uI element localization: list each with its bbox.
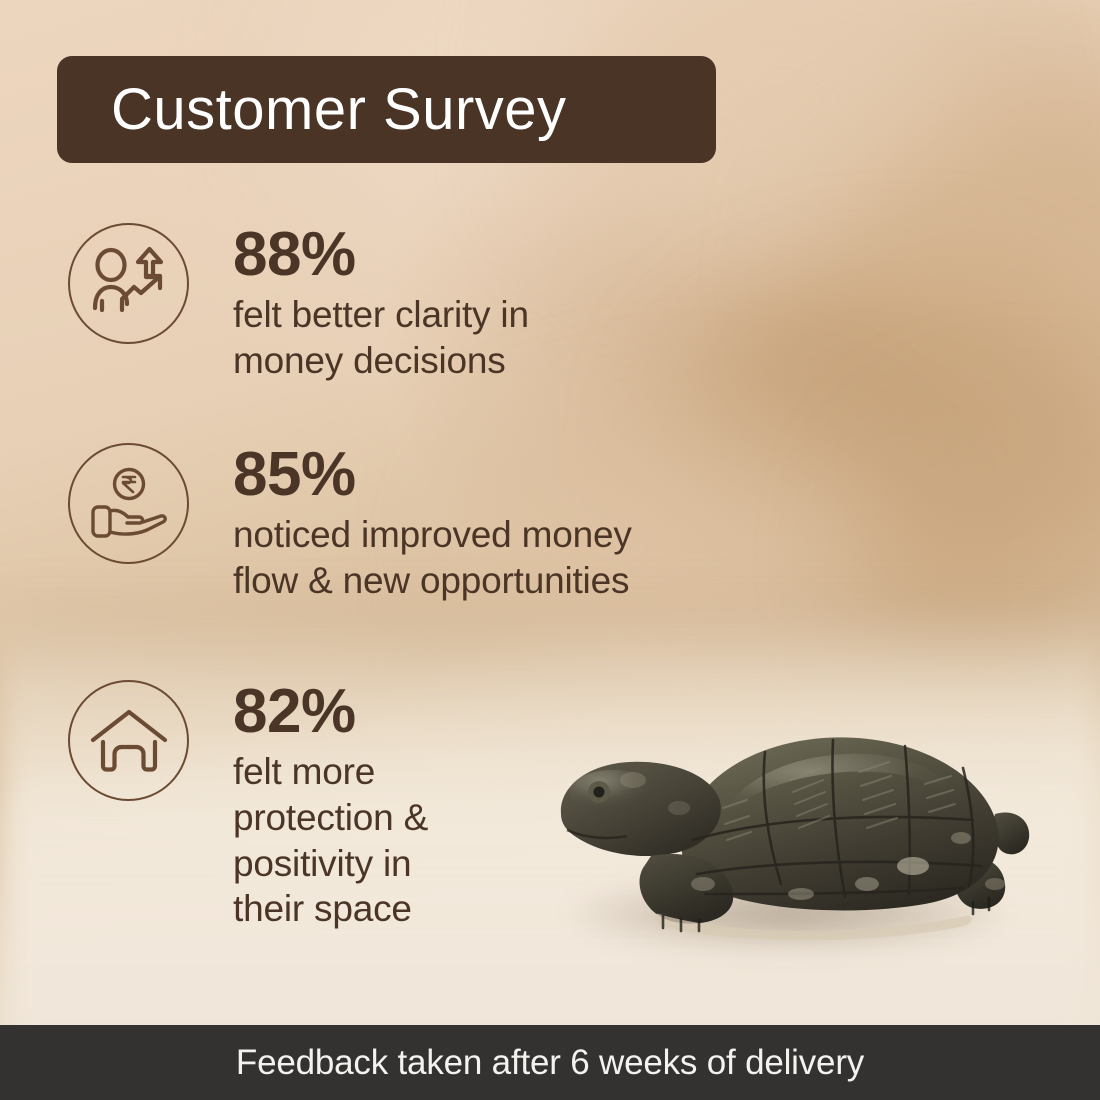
home-icon xyxy=(68,680,189,801)
stat-description: felt more protection & positivity in the… xyxy=(233,749,428,933)
stat-description: noticed improved money flow & new opport… xyxy=(233,512,632,604)
stat-percent: 82% xyxy=(233,682,428,743)
stat-percent: 88% xyxy=(233,225,529,286)
title-banner: Customer Survey xyxy=(57,56,716,163)
customer-survey-infographic: Customer Survey xyxy=(0,0,1100,1100)
page-title: Customer Survey xyxy=(57,81,567,139)
stat-content: 82% felt more protection & positivity in… xyxy=(233,680,428,932)
hand-rupee-coin-icon xyxy=(68,443,189,564)
stone-turtle-figurine xyxy=(533,688,1045,950)
footer-bar: Feedback taken after 6 weeks of delivery xyxy=(0,1025,1100,1100)
stat-content: 85% noticed improved money flow & new op… xyxy=(233,443,632,604)
stat-content: 88% felt better clarity in money decisio… xyxy=(233,223,529,384)
stat-description: felt better clarity in money decisions xyxy=(233,292,529,384)
person-growth-chart-icon xyxy=(68,223,189,344)
stat-item: 85% noticed improved money flow & new op… xyxy=(68,443,632,604)
stat-item: 88% felt better clarity in money decisio… xyxy=(68,223,529,384)
stat-percent: 85% xyxy=(233,445,632,506)
footer-note: Feedback taken after 6 weeks of delivery xyxy=(236,1043,864,1083)
stat-item: 82% felt more protection & positivity in… xyxy=(68,680,428,932)
